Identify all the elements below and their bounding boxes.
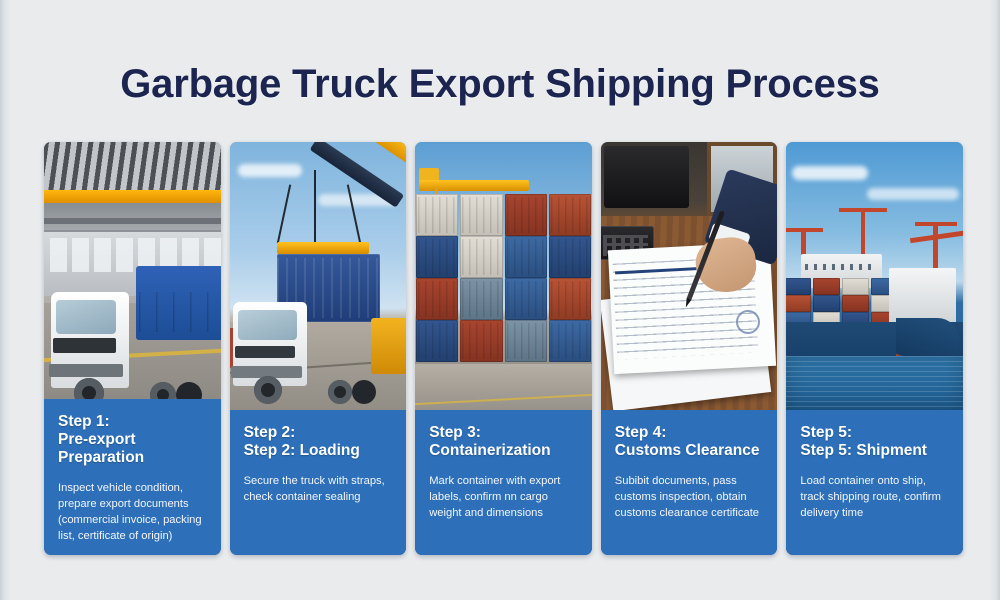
- step-3-body: Step 3: Containerization Mark container …: [415, 410, 592, 555]
- step-3-title: Step 3: Containerization: [429, 424, 580, 460]
- step-3-name: Containerization: [429, 442, 580, 460]
- step-1-name: Pre-export Preparation: [58, 431, 209, 467]
- step-2-body: Step 2: Step 2: Loading Secure the truck…: [230, 410, 407, 555]
- step-card-2[interactable]: Step 2: Step 2: Loading Secure the truck…: [230, 142, 407, 555]
- step-2-label: Step 2:: [244, 424, 395, 442]
- step-4-description: Subibit documents, pass customs inspecti…: [615, 474, 766, 522]
- step-5-name: Step 5: Shipment: [800, 442, 951, 460]
- step-2-name: Step 2: Loading: [244, 442, 395, 460]
- step-5-description: Load container onto ship, track shipping…: [800, 474, 951, 522]
- step-1-description: Inspect vehicle condition, prepare expor…: [58, 481, 209, 545]
- page-title: Garbage Truck Export Shipping Process: [0, 62, 1000, 107]
- steps-row: Step 1: Pre-export Preparation Inspect v…: [44, 142, 963, 555]
- step-1-photo: [44, 142, 221, 399]
- container-stack-image: [415, 142, 592, 410]
- container-ship-image: [786, 142, 963, 410]
- customs-document-signing-image: [601, 142, 778, 410]
- step-3-photo: [415, 142, 592, 410]
- step-card-5[interactable]: Step 5: Step 5: Shipment Load container …: [786, 142, 963, 555]
- step-4-body: Step 4: Customs Clearance Subibit docume…: [601, 410, 778, 555]
- crane-loading-container-image: [230, 142, 407, 410]
- step-4-photo: [601, 142, 778, 410]
- step-4-title: Step 4: Customs Clearance: [615, 424, 766, 460]
- step-5-photo: [786, 142, 963, 410]
- step-4-label: Step 4:: [615, 424, 766, 442]
- step-2-title: Step 2: Step 2: Loading: [244, 424, 395, 460]
- step-card-1[interactable]: Step 1: Pre-export Preparation Inspect v…: [44, 142, 221, 555]
- infographic-poster: Garbage Truck Export Shipping Process: [0, 0, 1000, 600]
- step-5-label: Step 5:: [800, 424, 951, 442]
- step-1-body: Step 1: Pre-export Preparation Inspect v…: [44, 399, 221, 555]
- step-5-title: Step 5: Step 5: Shipment: [800, 424, 951, 460]
- step-1-label: Step 1:: [58, 413, 209, 431]
- step-2-description: Secure the truck with straps, check cont…: [244, 474, 395, 506]
- step-3-description: Mark container with export labels, confi…: [429, 474, 580, 522]
- step-1-title: Step 1: Pre-export Preparation: [58, 413, 209, 467]
- step-card-4[interactable]: Step 4: Customs Clearance Subibit docume…: [601, 142, 778, 555]
- step-card-3[interactable]: Step 3: Containerization Mark container …: [415, 142, 592, 555]
- step-5-body: Step 5: Step 5: Shipment Load container …: [786, 410, 963, 555]
- warehouse-garbage-truck-image: [44, 142, 221, 399]
- step-2-photo: [230, 142, 407, 410]
- step-3-label: Step 3:: [429, 424, 580, 442]
- step-4-name: Customs Clearance: [615, 442, 766, 460]
